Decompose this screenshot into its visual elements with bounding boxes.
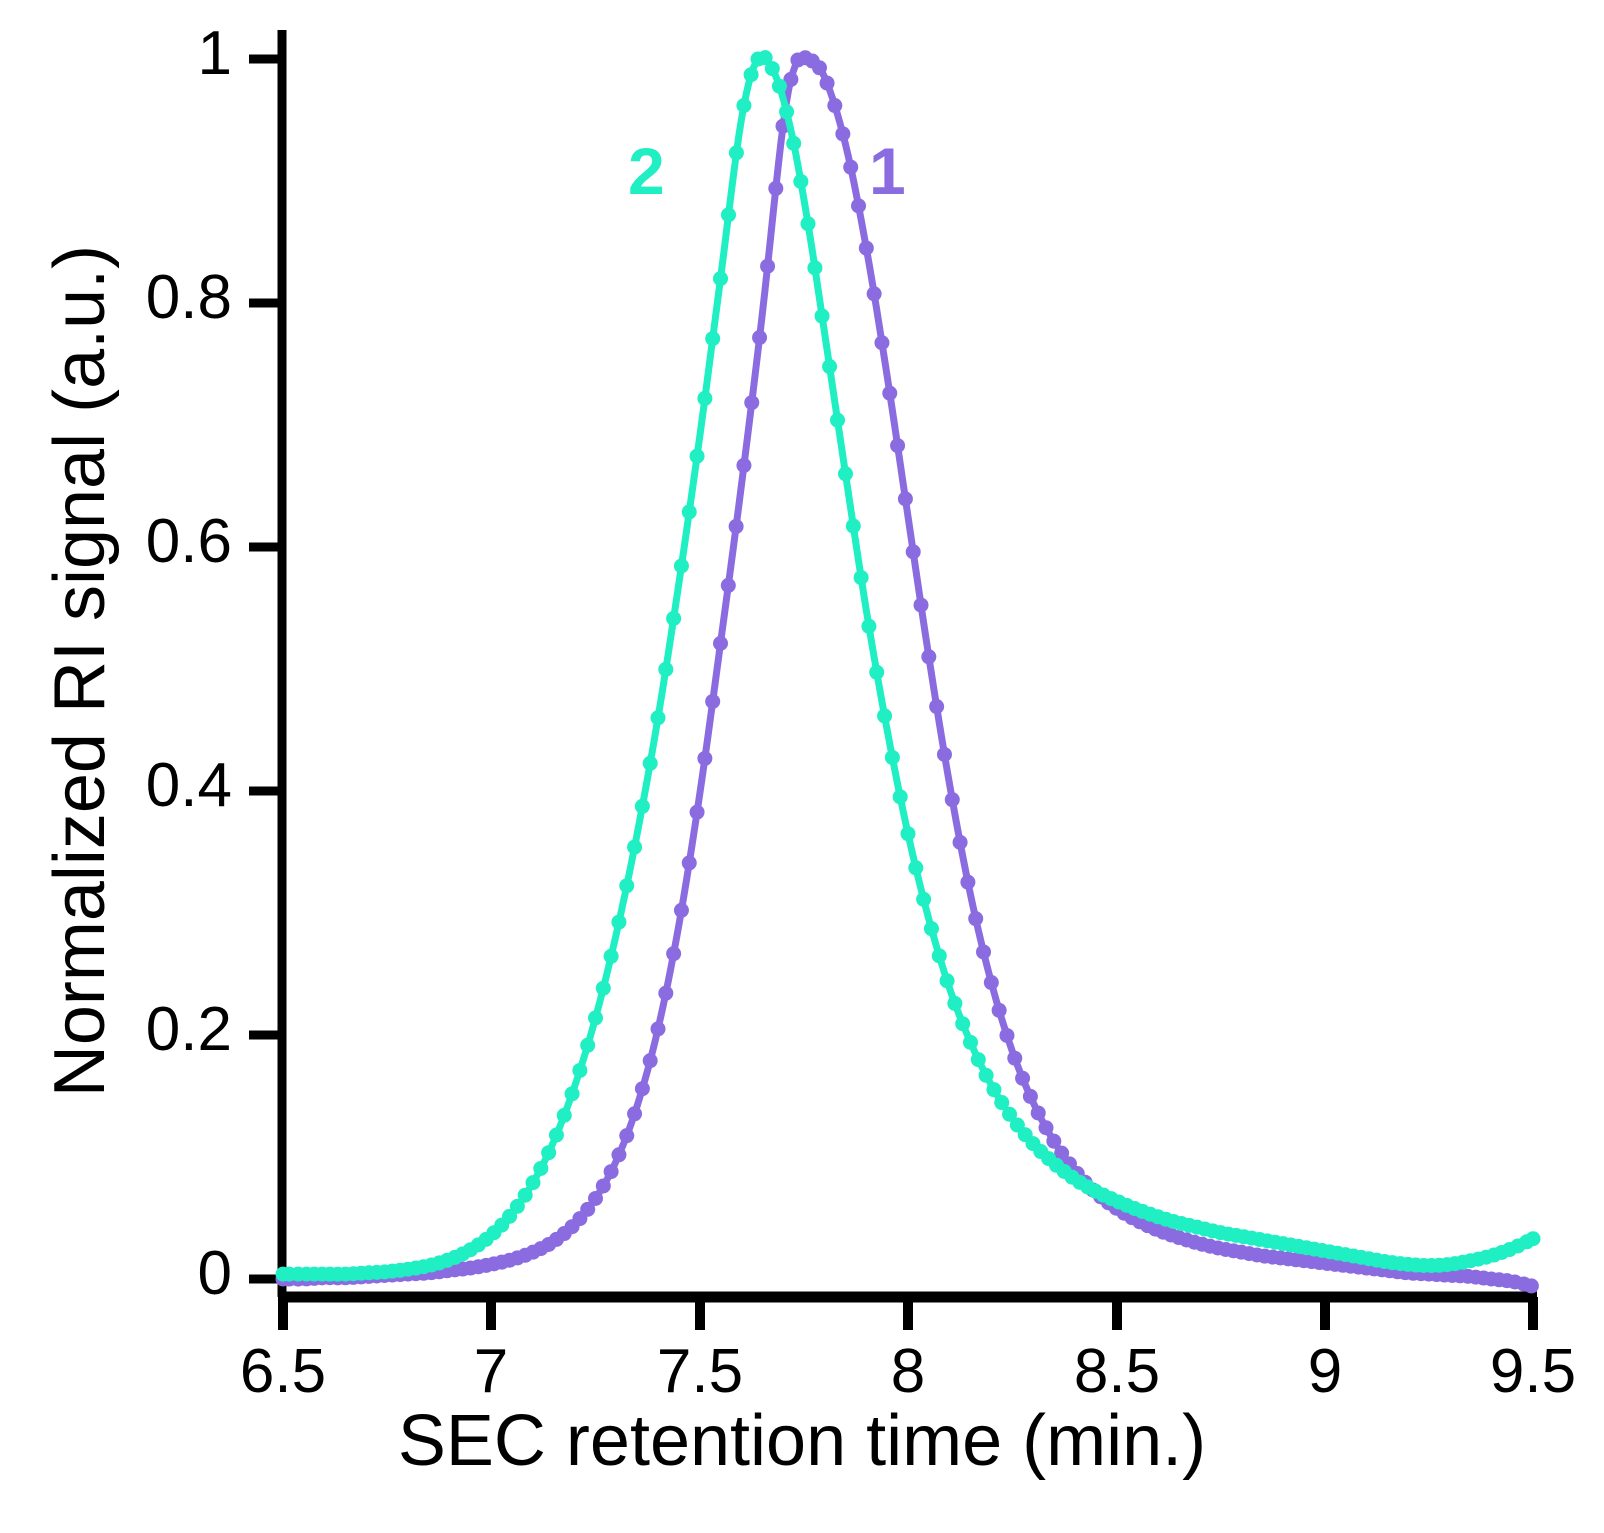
data-series-layer	[276, 50, 1541, 1293]
series-2-label: 2	[628, 133, 665, 209]
axis-layer	[249, 30, 1537, 1330]
x-tick-label-7-5: 7.5	[600, 1336, 800, 1407]
x-tick-label-9: 9	[1225, 1336, 1425, 1407]
series-1-label: 1	[869, 133, 906, 209]
x-tick-label-9-5: 9.5	[1433, 1336, 1604, 1407]
y-axis-ticks	[249, 59, 282, 1279]
plot-canvas	[0, 0, 1604, 1533]
series-1-markers	[276, 50, 1539, 1293]
series-2-trace	[276, 50, 1541, 1282]
x-tick-label-8-5: 8.5	[1017, 1336, 1217, 1407]
series-2-markers	[276, 50, 1541, 1282]
series-2-line	[283, 56, 1533, 1274]
x-tick-label-6-5: 6.5	[183, 1336, 383, 1407]
series-1-trace	[276, 50, 1539, 1293]
y-axis-title: Normalized RI signal (a.u.)	[39, 31, 121, 1311]
chart-figure: 1 0.8 0.6 0.4 0.2 0 6.5 7 7.5 8 8.5 9 9.…	[0, 0, 1604, 1533]
series-1-line	[283, 57, 1533, 1286]
x-axis-title: SEC retention time (min.)	[0, 1400, 1604, 1482]
x-tick-label-8: 8	[808, 1336, 1008, 1407]
x-tick-label-7: 7	[391, 1336, 591, 1407]
